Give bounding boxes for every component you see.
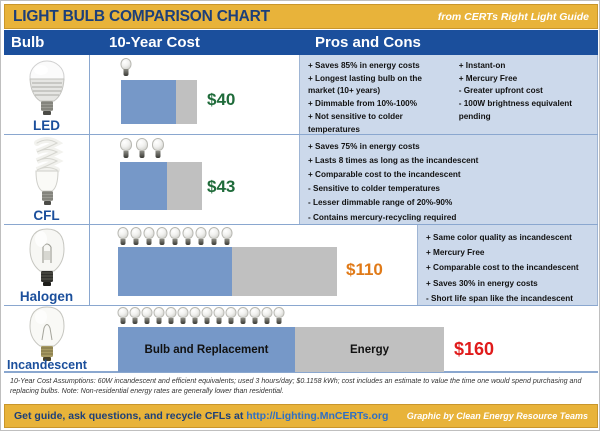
bottom-bar-credit: Graphic by Clean Energy Resource Teams <box>407 411 588 421</box>
bulb-strip-incandescent <box>117 307 285 324</box>
mini-bulb-icon <box>195 227 207 245</box>
table-row-incandescent: Incandescent Bulb and Replacement Energy <box>4 306 598 372</box>
cost-bar-cfl <box>120 162 202 210</box>
table-row-led: LED $40 + Saves 85% in energy costs + Lo… <box>4 55 598 135</box>
mini-bulb-icon <box>119 138 133 158</box>
mini-bulb-icon <box>261 307 273 324</box>
mini-bulb-icon <box>213 307 225 324</box>
pros-cons-pane-cfl: + Saves 75% in energy costs + Lasts 8 ti… <box>299 135 598 224</box>
price-label-cfl: $43 <box>207 177 235 197</box>
halogen-bulb-icon <box>18 227 76 291</box>
mini-bulb-icon <box>225 307 237 324</box>
pros-cons-left-cfl: + Saves 75% in energy costs + Lasts 8 ti… <box>308 140 598 225</box>
footnote: 10-Year Cost Assumptions: 60W incandesce… <box>4 372 598 402</box>
mini-bulb-icon <box>208 227 220 245</box>
mini-bulb-icon <box>165 307 177 324</box>
bulb-strip-cfl <box>119 138 165 158</box>
cost-bar-segment-bulb-replacement <box>118 247 232 296</box>
cfl-bulb-icon <box>18 137 76 209</box>
bulb-cell-halogen: Halogen <box>4 225 90 305</box>
price-label-halogen: $110 <box>346 260 383 280</box>
cost-bar-segment-bulb-replacement <box>121 80 176 124</box>
mini-bulb-icon <box>273 307 285 324</box>
cost-bar-segment-bulb-replacement: Bulb and Replacement <box>118 327 295 372</box>
pros-cons-left-halogen: + Same color quality as incandescent + M… <box>426 230 598 306</box>
table-row-cfl: CFL $43 + Saves <box>4 135 598 225</box>
bulb-strip-halogen <box>117 227 233 245</box>
mini-bulb-icon <box>249 307 261 324</box>
mini-bulb-icon <box>237 307 249 324</box>
footnote-text: 10-Year Cost Assumptions: 60W incandesce… <box>10 376 592 396</box>
row-label-incandescent: Incandescent <box>4 358 90 372</box>
lighting-url-link[interactable]: http://Lighting.MnCERTs.org <box>246 410 388 422</box>
cost-bar-segment-bulb-replacement <box>120 162 167 210</box>
column-header-cost: 10-Year Cost <box>109 34 200 51</box>
mini-bulb-icon <box>189 307 201 324</box>
mini-bulb-icon <box>221 227 233 245</box>
bulb-strip-led <box>119 58 132 76</box>
cost-bar-segment-label-gray: Energy <box>350 344 389 356</box>
incandescent-bulb-icon <box>18 306 76 362</box>
pros-cons-right-led: + Instant-on + Mercury Free - Greater up… <box>459 60 589 136</box>
mini-bulb-icon <box>117 307 129 324</box>
mini-bulb-icon <box>201 307 213 324</box>
bottom-bar-text: Get guide, ask questions, and recycle CF… <box>14 410 246 422</box>
cost-bar-incandescent: Bulb and Replacement Energy <box>118 327 444 372</box>
mini-bulb-icon <box>153 307 165 324</box>
cost-bar-segment-energy <box>167 162 202 210</box>
row-label-led: LED <box>4 118 89 133</box>
mini-bulb-icon <box>177 307 189 324</box>
mini-bulb-icon <box>151 138 165 158</box>
price-label-incandescent: $160 <box>454 339 494 360</box>
bottom-bar-message: Get guide, ask questions, and recycle CF… <box>14 410 388 422</box>
cost-bar-segment-energy <box>232 247 337 296</box>
infographic-root: LIGHT BULB COMPARISON CHART from CERTs R… <box>0 0 600 431</box>
pros-cons-pane-halogen: + Same color quality as incandescent + M… <box>417 225 598 305</box>
mini-bulb-icon <box>119 58 132 76</box>
mini-bulb-icon <box>130 227 142 245</box>
mini-bulb-icon <box>156 227 168 245</box>
row-label-halogen: Halogen <box>4 289 89 304</box>
title-credit: from CERTs Right Light Guide <box>438 11 589 23</box>
bulb-cell-incandescent: Incandescent <box>4 306 90 371</box>
title-bar: LIGHT BULB COMPARISON CHART from CERTs R… <box>4 4 598 29</box>
cost-bar-segment-energy <box>176 80 197 124</box>
pros-cons-pane-led: + Saves 85% in energy costs + Longest la… <box>299 55 598 134</box>
mini-bulb-icon <box>182 227 194 245</box>
mini-bulb-icon <box>141 307 153 324</box>
bulb-cell-led: LED <box>4 55 90 134</box>
cost-bar-halogen <box>118 247 337 296</box>
column-header-pros: Pros and Cons <box>315 34 421 51</box>
mini-bulb-icon <box>143 227 155 245</box>
cost-bar-segment-label-blue: Bulb and Replacement <box>145 344 269 356</box>
mini-bulb-icon <box>169 227 181 245</box>
bottom-bar: Get guide, ask questions, and recycle CF… <box>4 404 598 428</box>
mini-bulb-icon <box>135 138 149 158</box>
cost-bar-segment-energy: Energy <box>295 327 444 372</box>
pros-cons-left-led: + Saves 85% in energy costs + Longest la… <box>308 60 453 136</box>
cost-bar-led <box>121 80 197 124</box>
mini-bulb-icon <box>117 227 129 245</box>
row-label-cfl: CFL <box>4 208 89 223</box>
led-bulb-icon <box>18 57 76 119</box>
column-header-band: Bulb 10-Year Cost Pros and Cons <box>4 30 598 55</box>
column-header-bulb: Bulb <box>11 34 44 51</box>
price-label-led: $40 <box>207 90 235 110</box>
table-row-halogen: Halogen $110 + Same color quality as inc… <box>4 225 598 306</box>
bulb-cell-cfl: CFL <box>4 135 90 224</box>
mini-bulb-icon <box>129 307 141 324</box>
page-title: LIGHT BULB COMPARISON CHART <box>13 8 270 26</box>
